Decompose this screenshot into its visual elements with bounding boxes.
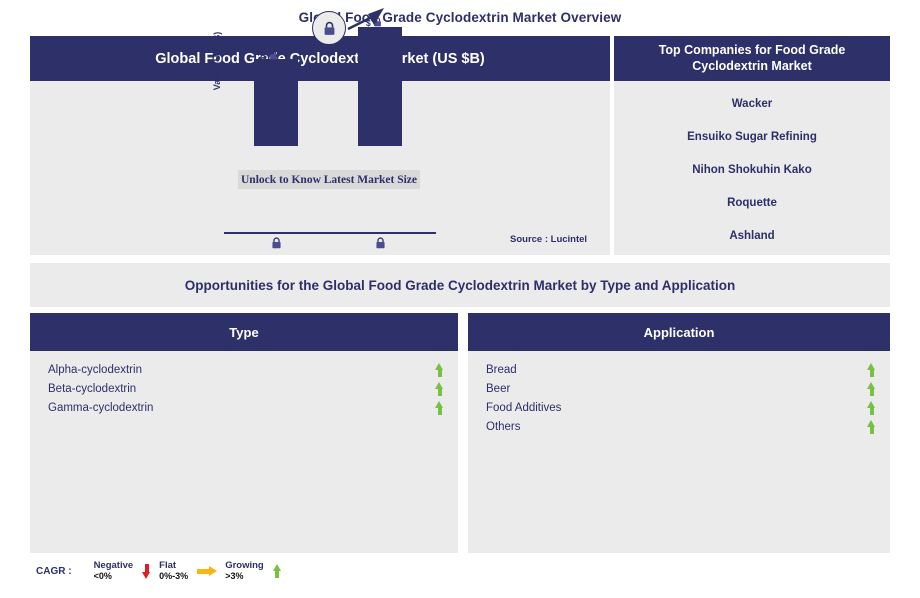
arrow-up-icon	[867, 382, 876, 396]
table-row: Beer	[486, 379, 876, 398]
page-title: Global Food Grade Cyclodextrin Market Ov…	[0, 10, 920, 25]
top-companies-title: Top Companies for Food Grade Cyclodextri…	[622, 43, 882, 74]
table-row: Others	[486, 417, 876, 436]
type-row-label: Alpha-cyclodextrin	[48, 364, 142, 376]
x-axis-tick-lock-icon-2	[375, 237, 386, 252]
application-segment-list: Bread Beer Food Additives Others	[468, 351, 890, 436]
arrow-up-icon	[435, 382, 444, 396]
lock-circle-icon	[312, 11, 346, 45]
legend-growing-range: >3%	[225, 571, 264, 582]
arrow-right-icon	[197, 566, 217, 576]
application-row-label: Beer	[486, 383, 510, 395]
chart-plot-area: $ $	[224, 6, 434, 146]
cagr-legend: CAGR : Negative <0% Flat 0%-3% Growing >…	[36, 560, 290, 582]
legend-negative-range: <0%	[94, 571, 134, 582]
chart-x-axis	[224, 232, 436, 234]
legend-growing-name: Growing	[225, 560, 264, 571]
application-segment-card: Application Bread Beer Food Additives Ot…	[468, 313, 890, 553]
list-item: Ensuiko Sugar Refining	[614, 120, 890, 153]
application-segment-header: Application	[468, 313, 890, 351]
list-item: Roquette	[614, 186, 890, 219]
arrow-up-icon	[435, 363, 444, 377]
legend-growing-text: Growing >3%	[225, 560, 264, 582]
top-companies-header: Top Companies for Food Grade Cyclodextri…	[614, 36, 890, 81]
list-item: Wacker	[614, 87, 890, 120]
application-segment-title: Application	[644, 325, 715, 340]
bar-1-currency: $	[262, 51, 267, 61]
legend-flat-text: Flat 0%-3%	[159, 560, 188, 582]
arrow-up-icon	[273, 564, 282, 578]
type-segment-list: Alpha-cyclodextrin Beta-cyclodextrin Gam…	[30, 351, 458, 417]
y-axis-label: Value (US $B)	[212, 16, 222, 106]
application-row-label: Bread	[486, 364, 517, 376]
type-segment-title: Type	[229, 325, 258, 340]
type-row-label: Gamma-cyclodextrin	[48, 402, 153, 414]
table-row: Beta-cyclodextrin	[48, 379, 444, 398]
x-axis-tick-lock-icon-1	[271, 237, 282, 252]
type-segment-header: Type	[30, 313, 458, 351]
arrow-up-icon	[435, 401, 444, 415]
legend-entry-flat: Flat 0%-3%	[159, 560, 217, 582]
table-row: Gamma-cyclodextrin	[48, 398, 444, 417]
opportunities-banner: Opportunities for the Global Food Grade …	[30, 263, 890, 307]
legend-negative-text: Negative <0%	[94, 560, 134, 582]
top-companies-list: Wacker Ensuiko Sugar Refining Nihon Shok…	[614, 81, 890, 255]
unlock-banner-text: Unlock to Know Latest Market Size	[241, 174, 417, 186]
list-item: Nihon Shokuhin Kako	[614, 153, 890, 186]
legend-entry-growing: Growing >3%	[225, 560, 282, 582]
opportunities-banner-text: Opportunities for the Global Food Grade …	[185, 278, 736, 293]
type-row-label: Beta-cyclodextrin	[48, 383, 136, 395]
bar-1	[254, 59, 298, 146]
type-segment-card: Type Alpha-cyclodextrin Beta-cyclodextri…	[30, 313, 458, 553]
arrow-up-icon	[867, 363, 876, 377]
arrow-up-icon	[867, 420, 876, 434]
application-row-label: Others	[486, 421, 521, 433]
arrow-down-icon	[142, 564, 151, 579]
legend-negative-name: Negative	[94, 560, 134, 571]
table-row: Bread	[486, 360, 876, 379]
table-row: Food Additives	[486, 398, 876, 417]
legend-entry-negative: Negative <0%	[94, 560, 152, 582]
table-row: Alpha-cyclodextrin	[48, 360, 444, 379]
cagr-legend-title: CAGR :	[36, 566, 72, 577]
source-note: Source : Lucintel	[510, 234, 587, 245]
legend-flat-name: Flat	[159, 560, 188, 571]
list-item: Ashland	[614, 219, 890, 252]
arrow-up-icon	[867, 401, 876, 415]
legend-flat-range: 0%-3%	[159, 571, 188, 582]
application-row-label: Food Additives	[486, 402, 561, 414]
top-companies-card: Top Companies for Food Grade Cyclodextri…	[614, 36, 890, 255]
unlock-banner[interactable]: Unlock to Know Latest Market Size	[238, 170, 420, 189]
